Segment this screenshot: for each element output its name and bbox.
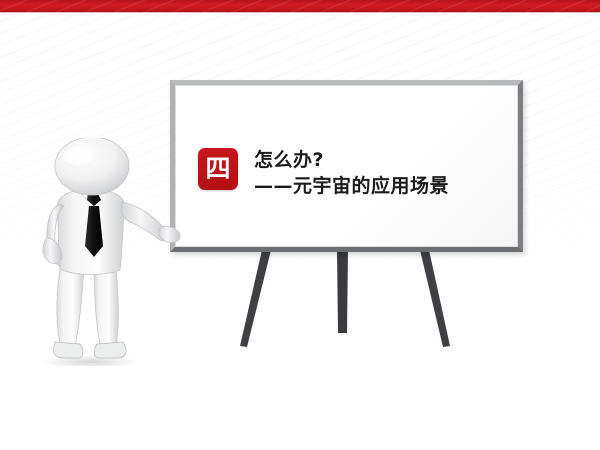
headline-subtitle: ——元宇宙的应用场景 — [254, 175, 449, 198]
presenter-figure — [22, 138, 182, 366]
headline-block: 怎么办? ——元宇宙的应用场景 — [254, 148, 449, 198]
board-content: 四 怎么办? ——元宇宙的应用场景 — [198, 148, 449, 198]
whiteboard-surface: 四 怎么办? ——元宇宙的应用场景 — [175, 85, 518, 247]
section-number-badge: 四 — [198, 148, 238, 190]
whiteboard: 四 怎么办? ——元宇宙的应用场景 — [170, 80, 523, 252]
slide-canvas: 四 怎么办? ——元宇宙的应用场景 — [0, 0, 600, 450]
headline-primary: 怎么办? — [254, 149, 449, 172]
